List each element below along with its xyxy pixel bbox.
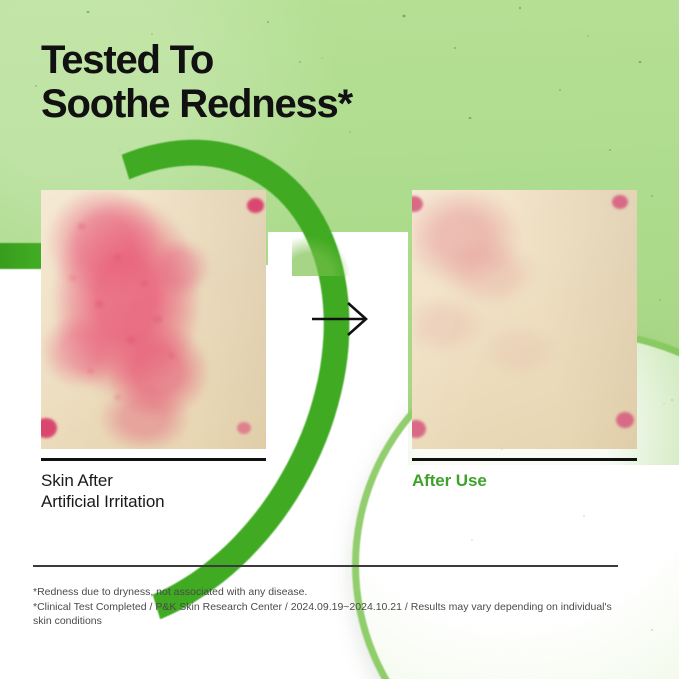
footer-divider [33,565,618,567]
after-photo [412,190,637,449]
page-title: Tested To Soothe Redness* [41,38,352,126]
before-photo [41,190,266,449]
skin-shading-layer [41,190,266,449]
promo-graphic: Tested To Soothe Redness* Skin After Art… [0,0,679,679]
skin-blemish-icon [616,412,634,428]
after-caption-rule [412,458,637,461]
after-caption: After Use [412,470,487,491]
footnote-text: *Redness due to dryness, not associated … [33,585,633,629]
before-caption: Skin After Artificial Irritation [41,470,165,512]
skin-blemish-icon [247,198,264,213]
skin-blemish-icon [237,422,251,434]
green-swoosh-shading [292,236,350,276]
arrow-right-icon [310,300,372,338]
before-caption-rule [41,458,266,461]
skin-blemish-icon [612,195,628,209]
skin-shading-layer [412,190,637,449]
